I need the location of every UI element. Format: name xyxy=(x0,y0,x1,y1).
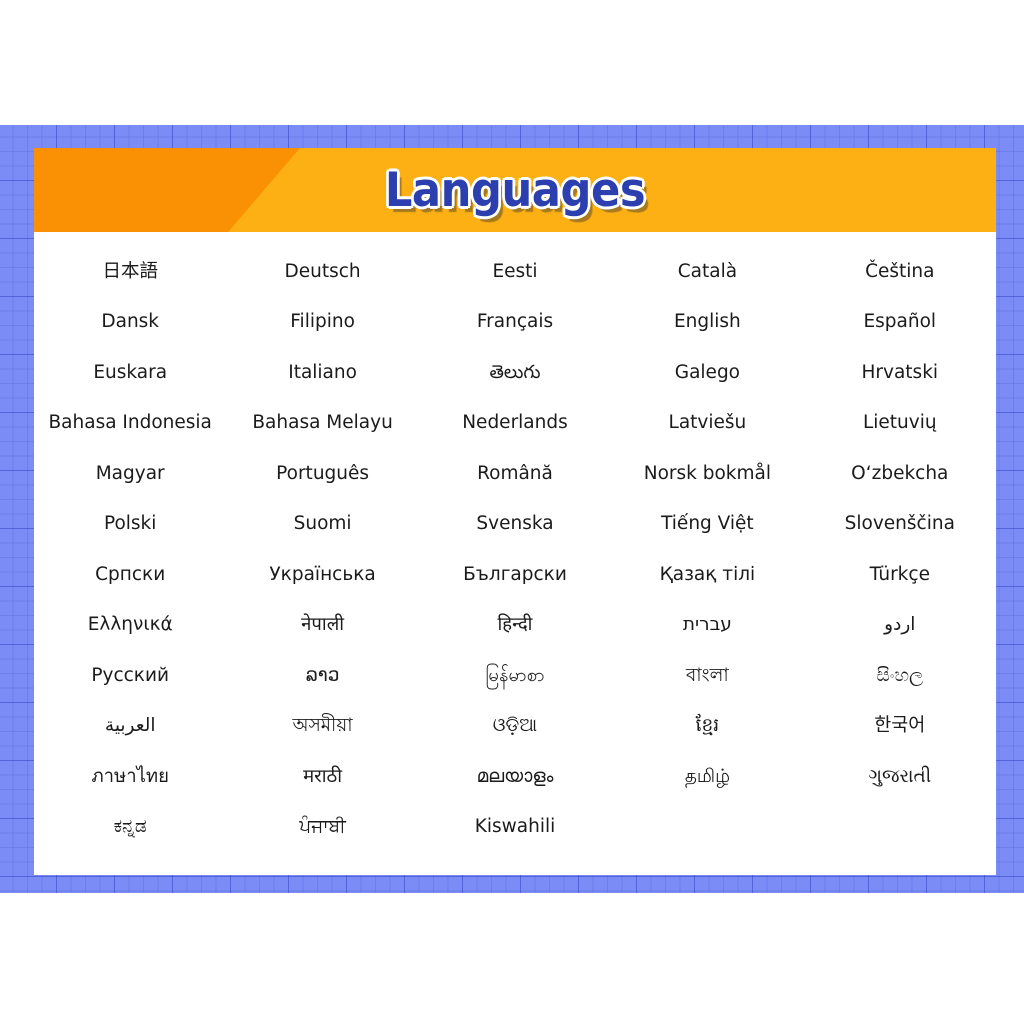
language-cell[interactable]: Português xyxy=(276,462,369,485)
language-cell[interactable]: Galego xyxy=(675,361,740,384)
language-cell[interactable]: తెలుగు xyxy=(489,361,540,384)
language-cell[interactable]: ગુજરાતી xyxy=(868,765,931,788)
page-title: Languages xyxy=(72,148,957,232)
language-cell[interactable]: Slovenščina xyxy=(845,512,955,535)
language-cell[interactable]: Italiano xyxy=(288,361,357,384)
language-cell[interactable]: Hrvatski xyxy=(862,361,939,384)
language-cell[interactable]: Српски xyxy=(95,563,165,586)
language-grid: 日本語DeutschEestiCatalàČeštinaDanskFilipin… xyxy=(34,232,996,875)
language-cell[interactable]: ಕನ್ನಡ xyxy=(114,815,147,838)
language-cell[interactable]: Euskara xyxy=(93,361,167,384)
card-header: Languages xyxy=(34,148,996,232)
language-cell[interactable]: Svenska xyxy=(476,512,553,535)
language-cell[interactable]: मराठी xyxy=(303,765,342,788)
language-cell[interactable]: සිංහල xyxy=(876,664,923,687)
language-cell[interactable]: हिन्दी xyxy=(498,613,533,636)
language-cell[interactable]: বাংলা xyxy=(686,664,729,687)
language-cell[interactable]: 日本語 xyxy=(102,260,158,283)
language-cell[interactable]: עברית xyxy=(683,613,732,636)
language-cell[interactable]: Български xyxy=(463,563,567,586)
language-cell[interactable]: Türkçe xyxy=(870,563,930,586)
language-cell[interactable]: မြန်မာစာ xyxy=(485,664,544,687)
language-cell[interactable]: ଓଡ଼ିଆ xyxy=(493,714,537,737)
language-cell[interactable]: Bahasa Indonesia xyxy=(48,411,211,434)
language-cell[interactable]: Oʻzbekcha xyxy=(851,462,948,485)
language-cell[interactable]: Filipino xyxy=(290,310,355,333)
language-cell[interactable]: অসমীয়া xyxy=(293,714,353,737)
language-cell[interactable]: Ελληνικά xyxy=(88,613,173,636)
language-cell[interactable]: Čeština xyxy=(865,260,934,283)
language-cell[interactable]: 한국어 xyxy=(874,714,925,737)
language-cell[interactable]: नेपाली xyxy=(301,613,344,636)
language-cell[interactable]: Русский xyxy=(91,664,169,687)
poster-canvas: Languages 日本語DeutschEestiCatalàČeštinaDa… xyxy=(0,0,1024,1024)
language-cell[interactable]: ਪੰਜਾਬੀ xyxy=(299,815,345,838)
language-cell[interactable]: اردو xyxy=(884,613,915,636)
languages-card: Languages 日本語DeutschEestiCatalàČeštinaDa… xyxy=(34,148,996,875)
language-cell[interactable]: Suomi xyxy=(294,512,352,535)
language-cell[interactable]: Kiswahili xyxy=(475,815,556,838)
language-cell[interactable]: ภาษาไทย xyxy=(91,765,169,788)
language-cell[interactable]: English xyxy=(674,310,741,333)
language-cell[interactable]: ລາວ xyxy=(306,664,340,687)
language-cell[interactable]: Bahasa Melayu xyxy=(252,411,392,434)
language-cell[interactable]: Eesti xyxy=(492,260,537,283)
language-cell[interactable]: Español xyxy=(863,310,936,333)
language-cell[interactable]: Català xyxy=(678,260,737,283)
language-cell[interactable]: தமிழ் xyxy=(685,765,730,788)
language-cell[interactable]: Polski xyxy=(104,512,156,535)
language-cell[interactable]: Dansk xyxy=(101,310,159,333)
language-cell[interactable]: Français xyxy=(477,310,553,333)
language-cell[interactable]: Українська xyxy=(269,563,375,586)
language-cell[interactable]: العربية xyxy=(105,714,156,737)
language-cell[interactable]: മലയാളം xyxy=(477,765,554,788)
language-cell[interactable]: Deutsch xyxy=(285,260,361,283)
language-cell[interactable]: Norsk bokmål xyxy=(644,462,771,485)
language-cell[interactable]: Nederlands xyxy=(462,411,568,434)
language-cell[interactable]: Tiếng Việt xyxy=(661,512,754,535)
language-cell[interactable]: Қазақ тілі xyxy=(660,563,756,586)
language-cell[interactable]: Latviešu xyxy=(669,411,747,434)
language-cell[interactable]: Lietuvių xyxy=(863,411,937,434)
language-cell[interactable]: Magyar xyxy=(96,462,165,485)
language-cell[interactable]: Română xyxy=(477,462,553,485)
language-cell[interactable]: ខ្មែរ xyxy=(696,714,720,737)
